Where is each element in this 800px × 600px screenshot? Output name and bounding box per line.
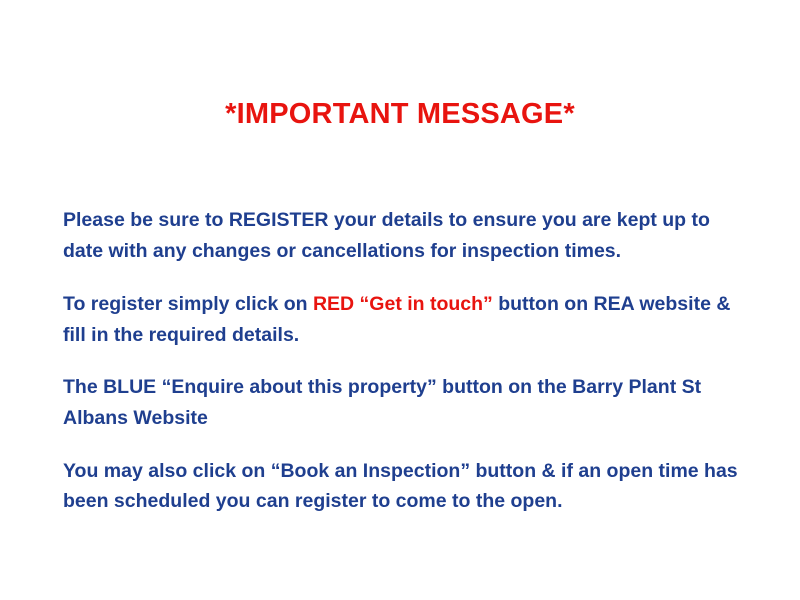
red-get-in-touch-highlight: RED “Get in touch” xyxy=(313,293,493,315)
paragraph-blue-enquire-button: The BLUE “Enquire about this property” b… xyxy=(63,372,743,433)
paragraph-get-in-touch: To register simply click on RED “Get in … xyxy=(63,289,743,350)
paragraph-book-an-inspection: You may also click on “Book an Inspectio… xyxy=(63,456,743,517)
slide-canvas: *IMPORTANT MESSAGE* Please be sure to RE… xyxy=(0,0,800,600)
paragraph-get-in-touch-part1: To register simply click on xyxy=(63,293,313,315)
slide-title: *IMPORTANT MESSAGE* xyxy=(0,98,800,131)
paragraph-register-details: Please be sure to REGISTER your details … xyxy=(63,205,743,266)
slide-body: Please be sure to REGISTER your details … xyxy=(63,205,743,517)
